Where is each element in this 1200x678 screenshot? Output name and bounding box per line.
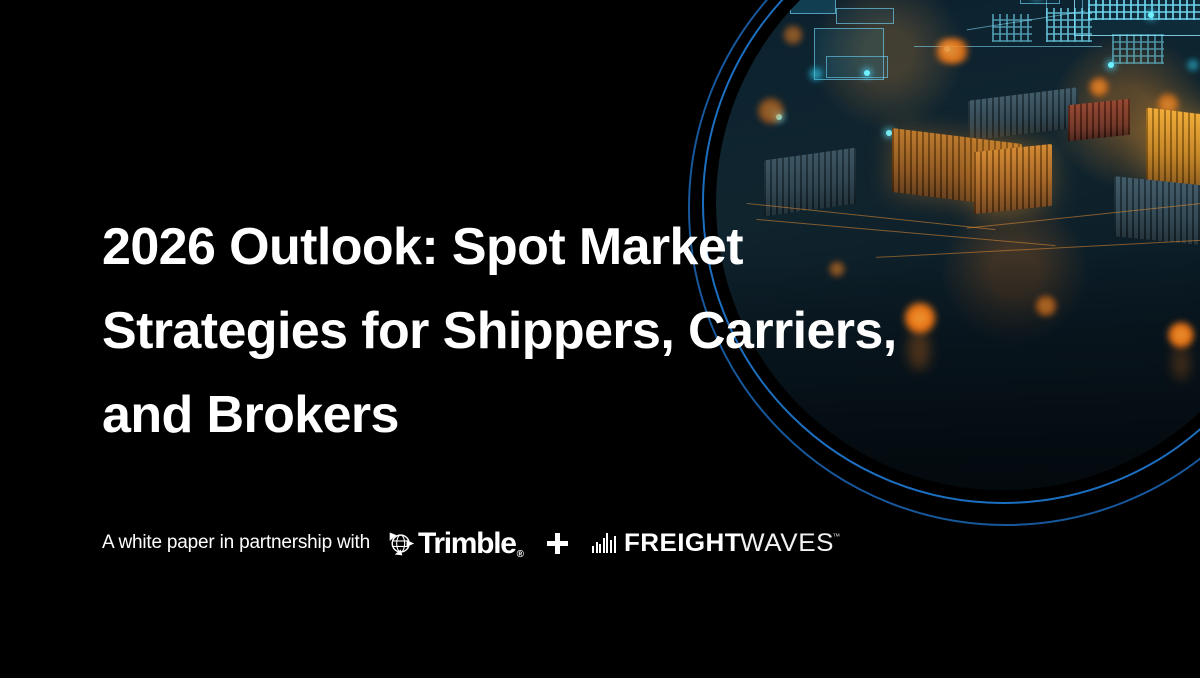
bokeh-light [756,96,786,126]
freightwaves-logo: FREIGHT WAVES ™ [592,527,838,559]
hud-node [1108,62,1114,68]
freightwaves-wordmark: FREIGHT WAVES ™ [624,531,838,556]
shipping-container [974,144,1052,214]
bokeh-light [782,24,804,46]
page-title-line-2: Strategies for Shippers, Carriers, [102,289,982,373]
bokeh-light [930,38,974,64]
shipping-container [1068,99,1130,142]
hud-node [1148,12,1154,18]
trimble-registered-mark: ® [517,549,524,560]
freightwaves-bars-icon [592,533,617,553]
hud-node [864,70,870,76]
bokeh-light-cyan [1186,58,1200,72]
page-title-line-1: 2026 Outlook: Spot Market [102,205,982,289]
hud-barchart-b [992,14,1032,42]
hud-link-line [1082,0,1083,18]
trimble-wordmark-text: Trimble [418,527,516,560]
hud-data-grid [1088,0,1200,20]
trimble-wordmark: Trimble® [418,529,523,559]
bokeh-light [1088,76,1110,98]
hud-panel-billboard [790,0,836,14]
bokeh-light-cyan [808,66,824,82]
page-title: 2026 Outlook: Spot Market Strategies for… [102,205,982,457]
hud-panel-small [1020,0,1060,4]
hud-panel-screen [814,28,884,80]
trimble-logo: Trimble® [388,527,523,559]
partnership-label: A white paper in partnership with [102,532,370,554]
hud-link-line [1046,0,1047,22]
page-title-line-3: and Brokers [102,373,982,457]
trimble-globe-icon [388,530,415,557]
partnership-row: A white paper in partnership with Trimbl… [102,526,838,560]
bokeh-light-foreground [1034,294,1058,318]
light-reflection [1172,346,1190,380]
hud-panel-sign-a [836,8,894,24]
white-paper-cover: 2026 Outlook: Spot Market Strategies for… [0,0,1200,678]
freightwaves-wordmark-bold: FREIGHT [624,531,741,556]
freightwaves-wordmark-light: WAVES [740,531,834,556]
hud-barchart-c [1112,34,1164,64]
plus-separator-icon [547,533,568,554]
shipping-container [968,87,1078,141]
freightwaves-trademark-mark: ™ [832,533,840,541]
